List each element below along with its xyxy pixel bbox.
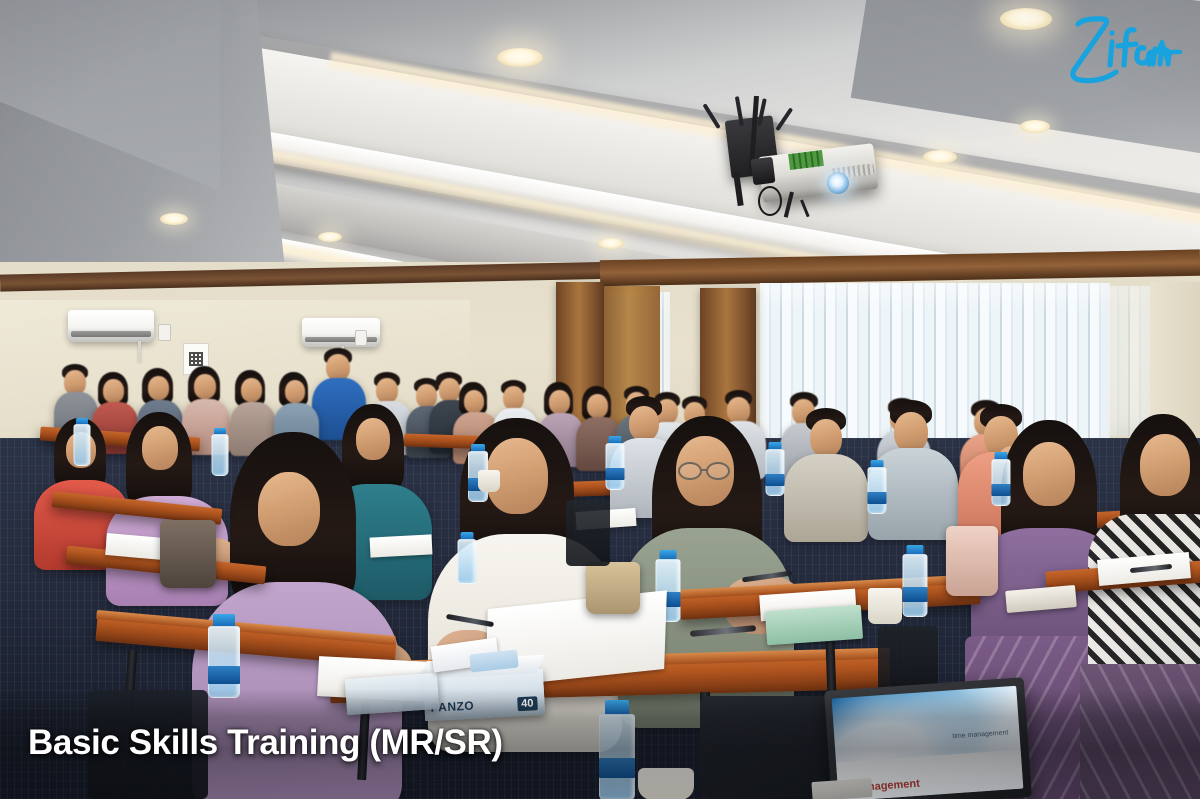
water-bottle-far-right <box>866 460 888 514</box>
water-bottle-right <box>900 545 930 617</box>
projector-lens <box>827 172 849 194</box>
cup-mid-center <box>478 470 500 492</box>
water-bottle-mid-center <box>604 436 626 490</box>
green-notebook <box>765 605 863 646</box>
training-photo: PANZO 40 time management Management <box>0 0 1200 799</box>
air-conditioner-left <box>68 310 154 342</box>
handbag-center <box>586 562 640 614</box>
window-blinds-far-right <box>1108 286 1156 436</box>
water-bottle-rear-center <box>456 532 478 584</box>
water-bottle-left-rear2 <box>210 428 230 476</box>
zifam-logo <box>1054 8 1182 90</box>
air-conditioner-right <box>302 318 380 347</box>
laptop-base <box>811 778 872 799</box>
wall-switch-box-right <box>355 330 367 346</box>
panzo-strength-label: 40 <box>517 696 538 711</box>
handbag-right <box>946 526 998 596</box>
caption-title: Basic Skills Training (MR/SR) <box>28 723 503 763</box>
paper-cup-right <box>868 588 902 624</box>
water-bottle-front-center <box>596 700 638 799</box>
panzo-medicine-box: PANZO 40 <box>423 669 545 721</box>
water-bottle-front-left <box>205 614 243 698</box>
water-bottle-left-rear <box>72 418 92 466</box>
paper-cup-front <box>638 768 694 799</box>
water-bottle-back-right <box>764 442 786 496</box>
paper-mid-left <box>370 534 433 557</box>
water-bottle-right-edge <box>990 452 1012 506</box>
chair-mid <box>566 500 610 566</box>
handbag-left <box>160 520 216 588</box>
wall-switch-box-left <box>158 324 171 341</box>
panzo-box-secondary <box>345 673 439 715</box>
